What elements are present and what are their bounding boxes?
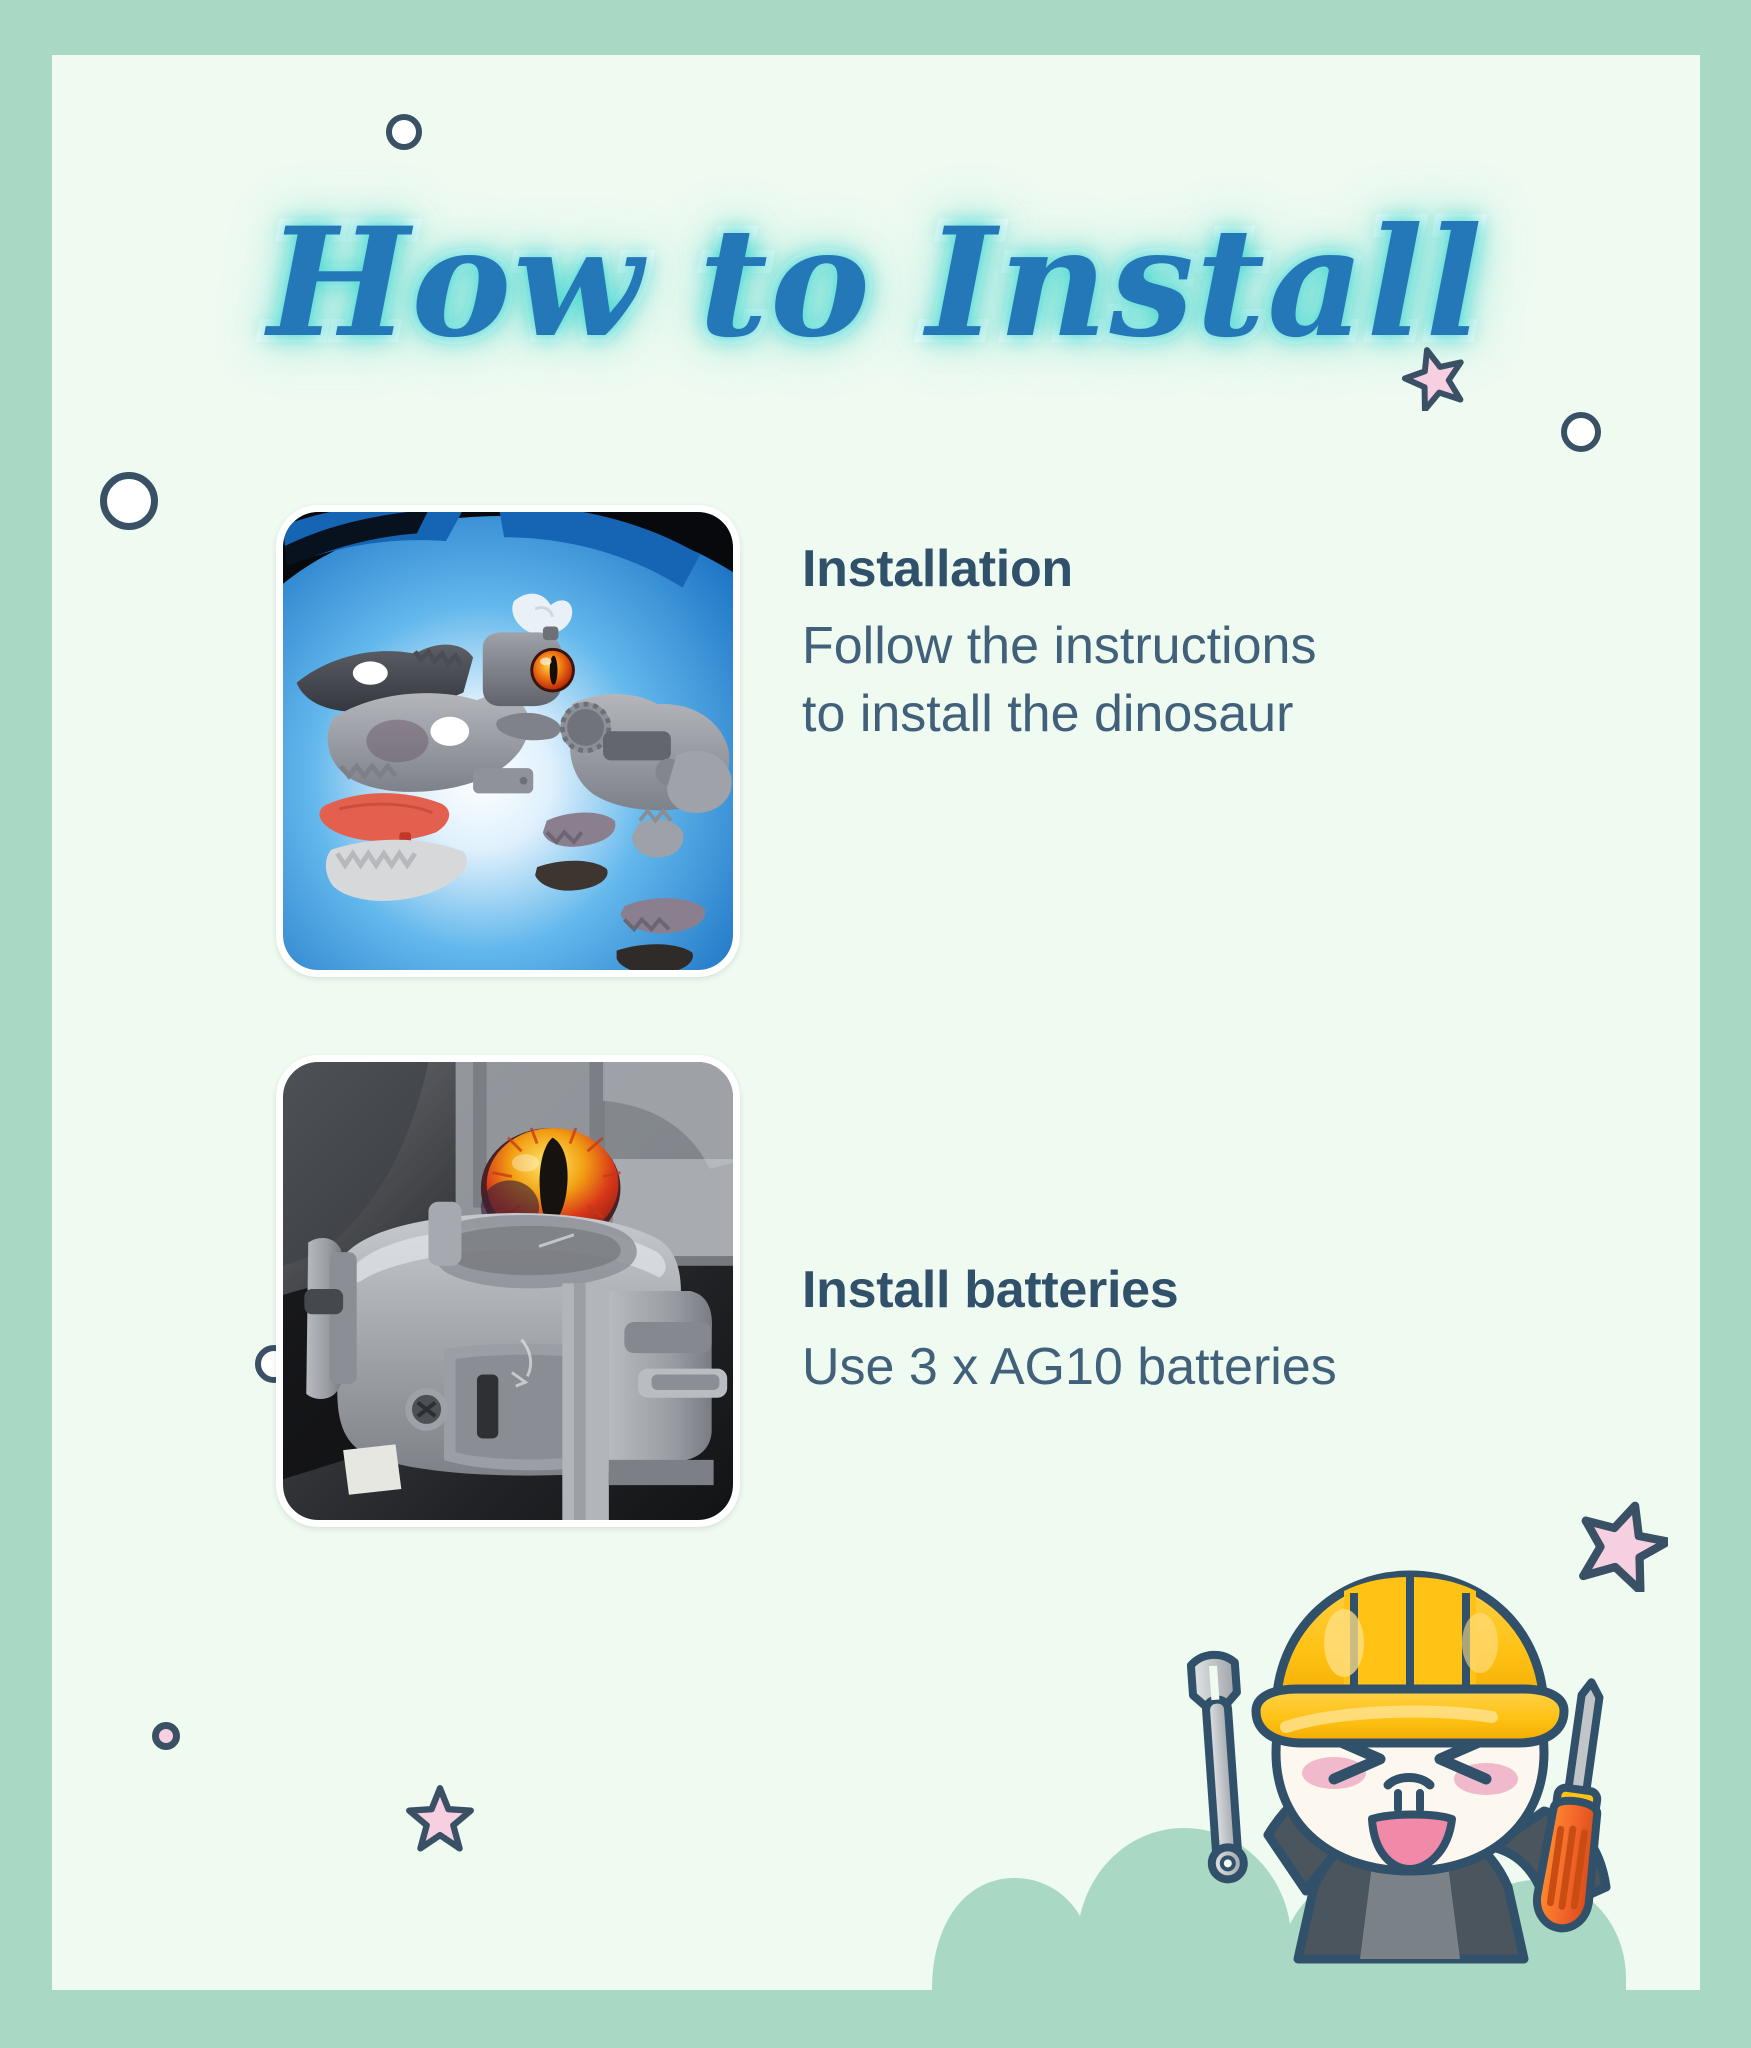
circle-right-small-icon: [1561, 412, 1601, 452]
page-title-wrap: How to Install: [52, 205, 1700, 363]
installation-heading: Installation: [802, 539, 1316, 599]
batteries-text: Install batteries Use 3 x AG10 batteries: [740, 1055, 1337, 1402]
circle-bottom-tiny-icon: [152, 1722, 180, 1750]
circle-top-left-small-icon: [386, 114, 422, 150]
batteries-heading: Install batteries: [802, 1260, 1337, 1320]
circle-left-large-icon: [100, 472, 158, 530]
section-install-batteries: Install batteries Use 3 x AG10 batteries: [276, 1055, 1337, 1527]
batteries-image-inner: [283, 1062, 733, 1520]
construction-worker-mascot-icon: [1148, 1535, 1668, 1990]
content-panel: How to Install: [52, 55, 1700, 1990]
installation-image-inner: [283, 512, 733, 970]
installation-text: Installation Follow the instructions to …: [740, 505, 1316, 748]
batteries-body-line1: Use 3 x AG10 batteries: [802, 1334, 1337, 1402]
section-installation: Installation Follow the instructions to …: [276, 505, 1316, 977]
poster-root: How to Install: [0, 0, 1751, 2048]
batteries-image[interactable]: [276, 1055, 740, 1527]
installation-body-line1: Follow the instructions: [802, 613, 1316, 681]
installation-image[interactable]: [276, 505, 740, 977]
installation-body-line2: to install the dinosaur: [802, 681, 1316, 749]
page-title: How to Install: [268, 205, 1485, 363]
star-top-right-icon: [1402, 345, 1468, 411]
